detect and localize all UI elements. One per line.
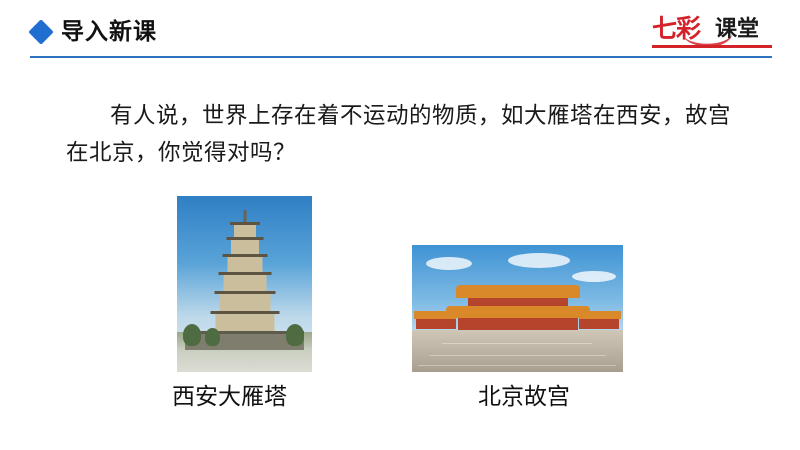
palace-cloud-1 bbox=[426, 257, 472, 270]
figure-xian-big-wild-goose-pagoda bbox=[177, 196, 312, 372]
palace-right-wing-roof bbox=[579, 311, 621, 319]
pagoda-tree-mid bbox=[205, 328, 220, 346]
plaza-line-3 bbox=[418, 365, 616, 366]
brand-logo: 七彩 课堂 bbox=[652, 14, 772, 50]
question-text: 有人说，世界上存在着不运动的物质，如大雁塔在西安，故宫在北京，你觉得对吗？ bbox=[66, 98, 746, 172]
caption-xian-big-wild-goose-pagoda: 西安大雁塔 bbox=[172, 386, 287, 409]
slide: 导入新课 七彩 课堂 有人说，世界上存在着不运动的物质，如大雁塔在西安，故宫在北… bbox=[0, 0, 800, 450]
palace-lower-body bbox=[458, 318, 578, 330]
logo-underline bbox=[652, 45, 772, 48]
palace-upper-body bbox=[468, 298, 568, 306]
palace-right-wing-body bbox=[579, 319, 619, 329]
caption-beijing-forbidden-city: 北京故宫 bbox=[478, 386, 570, 409]
pagoda-roof-3 bbox=[222, 254, 267, 257]
plaza-line-1 bbox=[442, 343, 592, 344]
figure-beijing-forbidden-city bbox=[412, 245, 623, 372]
palace-lower-roof bbox=[446, 306, 590, 318]
page-title: 导入新课 bbox=[61, 20, 157, 43]
pagoda-roof-5 bbox=[214, 291, 275, 294]
palace-left-wing-body bbox=[416, 319, 456, 329]
plaza-line-2 bbox=[430, 355, 606, 356]
palace-left-wing-roof bbox=[414, 311, 456, 319]
logo-black-text: 课堂 bbox=[715, 15, 759, 45]
pagoda-roof-2 bbox=[226, 237, 263, 240]
diamond-icon bbox=[28, 19, 53, 44]
palace-cloud-2 bbox=[508, 253, 570, 268]
palace-cloud-3 bbox=[572, 271, 616, 282]
palace-upper-roof bbox=[456, 285, 580, 298]
header-divider bbox=[30, 56, 772, 58]
header-title-group: 导入新课 bbox=[32, 20, 157, 43]
pagoda-roof-4 bbox=[218, 272, 271, 275]
pagoda-roof-1 bbox=[230, 222, 260, 225]
pagoda-tree-right bbox=[286, 324, 304, 346]
logo-red-text: 七彩 bbox=[652, 14, 700, 44]
pagoda-roof-6 bbox=[210, 311, 279, 314]
pagoda-tree-left bbox=[183, 324, 201, 346]
